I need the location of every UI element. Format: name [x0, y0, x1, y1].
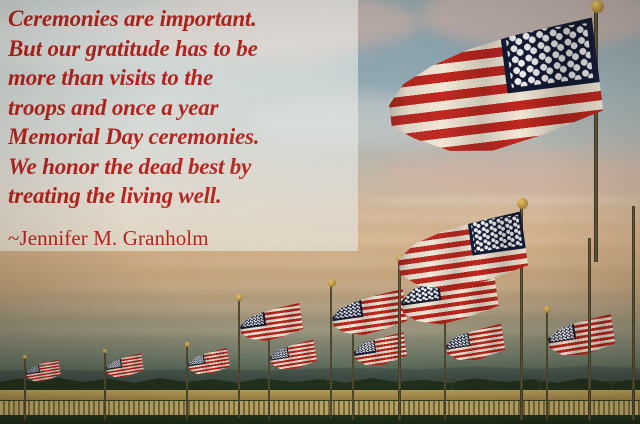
flagpole [24, 358, 26, 420]
finial-icon [103, 349, 107, 353]
picket-fence [0, 401, 640, 415]
finial-icon [185, 342, 190, 347]
power-pylon [452, 377, 453, 390]
finial-icon [328, 279, 336, 287]
finial-icon [517, 198, 528, 209]
quote-line: We honor the dead best by [8, 152, 354, 182]
quote-image: Ceremonies are important. But our gratit… [0, 0, 640, 424]
quote-attribution: ~Jennifer M. Granholm [8, 226, 209, 251]
finial-icon [591, 0, 604, 13]
flagpole [632, 206, 635, 420]
quote-overlay-panel: Ceremonies are important. But our gratit… [0, 0, 358, 251]
flagpole [398, 262, 401, 420]
quote-line: treating the living well. [8, 181, 354, 211]
flagpole [444, 322, 446, 420]
power-pylon [540, 376, 541, 390]
flagpole [104, 352, 106, 420]
cloud-streak [120, 258, 640, 265]
quote-line: Memorial Day ceremonies. [8, 122, 354, 152]
flagpole [268, 338, 270, 420]
flagpole [186, 346, 188, 420]
flagpole [352, 330, 354, 420]
cloud-streak [360, 196, 640, 205]
cloud-streak [40, 282, 640, 290]
finial-icon [236, 294, 243, 301]
flagpole [238, 300, 240, 418]
flagpole [546, 312, 548, 420]
flagpole [588, 238, 591, 420]
quote-line: troops and once a year [8, 93, 354, 123]
quote-line: Ceremonies are important. [8, 4, 354, 34]
power-pylon [612, 378, 613, 390]
quote-text: Ceremonies are important. But our gratit… [8, 4, 354, 211]
flagpole [330, 286, 332, 418]
finial-icon [544, 306, 551, 313]
cloud-streak [0, 326, 640, 334]
quote-line: But our gratitude has to be [8, 34, 354, 64]
finial-icon [23, 355, 27, 359]
quote-line: more than visits to the [8, 63, 354, 93]
